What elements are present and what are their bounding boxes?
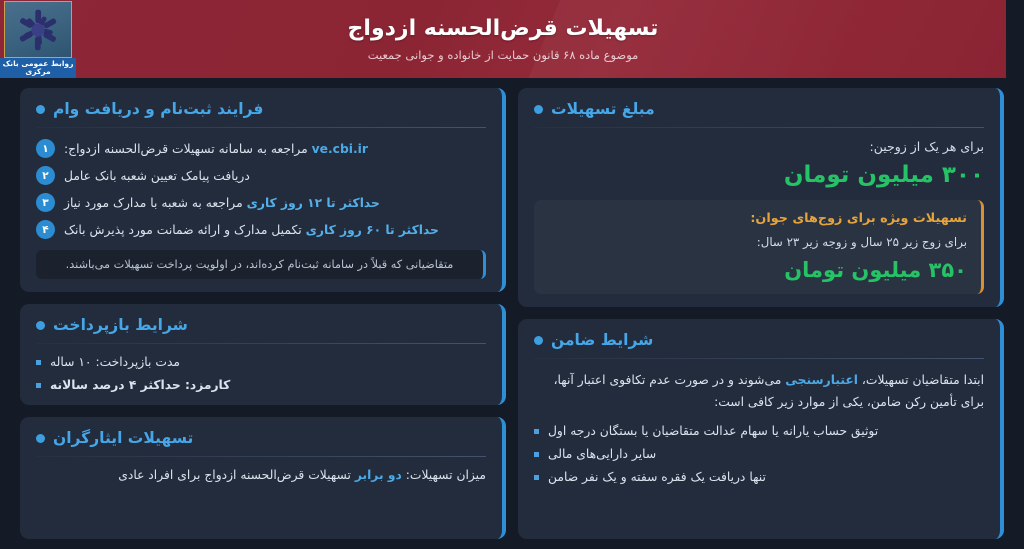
step-label: مراجعه به شعبه با مدارک مورد نیاز bbox=[64, 196, 243, 210]
step-text: حداکثر تا ۶۰ روز کاری تکمیل مدارک و ارائ… bbox=[64, 223, 439, 237]
repayment-list: مدت بازپرداخت: ۱۰ ساله کارمزد: حداکثر ۴ … bbox=[36, 355, 486, 392]
veterans-description: میزان تسهیلات: دو برابر تسهیلات قرض‌الحس… bbox=[36, 468, 486, 482]
step-text: ve.cbi.ir مراجعه به سامانه تسهیلات قرض‌ا… bbox=[64, 142, 368, 156]
process-title: فرایند ثبت‌نام و دریافت وام bbox=[53, 100, 263, 118]
divider bbox=[36, 343, 486, 344]
bullet-dot-icon bbox=[36, 321, 45, 330]
credit-scoring-highlight: اعتبارسنجی bbox=[785, 373, 858, 387]
repayment-header: شرایط بازپرداخت bbox=[36, 316, 486, 343]
list-item: ve.cbi.ir مراجعه به سامانه تسهیلات قرض‌ا… bbox=[36, 139, 486, 158]
square-bullet-icon bbox=[534, 429, 539, 434]
bullet-dot-icon bbox=[36, 434, 45, 443]
divider bbox=[36, 456, 486, 457]
step-label: مراجعه به سامانه تسهیلات قرض‌الحسنه ازدو… bbox=[64, 142, 308, 156]
step-label: دریافت پیامک تعیین شعبه بانک عامل bbox=[64, 169, 250, 183]
amount-label: برای هر یک از زوجین: bbox=[534, 139, 984, 154]
list-item: تنها دریافت یک فقره سفته و یک نفر ضامن bbox=[534, 470, 984, 484]
repayment-title: شرایط بازپرداخت bbox=[53, 316, 188, 334]
bullet-dot-icon bbox=[534, 336, 543, 345]
process-steps-list: ve.cbi.ir مراجعه به سامانه تسهیلات قرض‌ا… bbox=[36, 139, 486, 239]
veterans-multiplier-highlight: دو برابر bbox=[355, 468, 402, 482]
list-item: دریافت پیامک تعیین شعبه بانک عامل ۲ bbox=[36, 166, 486, 185]
guarantor-option-text: توثیق حساب یارانه یا سهام عدالت متقاضیان… bbox=[548, 424, 878, 438]
divider bbox=[534, 358, 984, 359]
repayment-conditions-card: شرایط بازپرداخت مدت بازپرداخت: ۱۰ ساله ک… bbox=[20, 304, 506, 405]
page-subtitle: موضوع ماده ۶۸ قانون حمایت از خانواده و ج… bbox=[368, 48, 639, 62]
amount-value: ۳۰۰ میلیون تومان bbox=[534, 162, 984, 188]
veterans-facility-card: تسهیلات ایثارگران میزان تسهیلات: دو براب… bbox=[20, 417, 506, 539]
bullet-dot-icon bbox=[36, 105, 45, 114]
facility-amount-card: مبلغ تسهیلات برای هر یک از زوجین: ۳۰۰ می… bbox=[518, 88, 1004, 307]
square-bullet-icon bbox=[534, 475, 539, 480]
bullet-dot-icon bbox=[534, 105, 543, 114]
square-bullet-icon bbox=[36, 360, 41, 365]
veterans-header: تسهیلات ایثارگران bbox=[36, 429, 486, 456]
step-number-badge: ۲ bbox=[36, 166, 55, 185]
page-title: تسهیلات قرض‌الحسنه ازدواج bbox=[348, 16, 659, 41]
facility-amount-header: مبلغ تسهیلات bbox=[534, 100, 984, 127]
step-text: حداکثر تا ۱۲ روز کاری مراجعه به شعبه با … bbox=[64, 196, 380, 210]
step-deadline-highlight: حداکثر تا ۶۰ روز کاری bbox=[306, 223, 439, 237]
guarantor-option-text: تنها دریافت یک فقره سفته و یک نفر ضامن bbox=[548, 470, 766, 484]
list-item: حداکثر تا ۱۲ روز کاری مراجعه به شعبه با … bbox=[36, 193, 486, 212]
guarantor-title: شرایط ضامن bbox=[551, 331, 653, 349]
step-deadline-highlight: حداکثر تا ۱۲ روز کاری bbox=[247, 196, 380, 210]
page-header: تسهیلات قرض‌الحسنه ازدواج موضوع ماده ۶۸ … bbox=[0, 0, 1006, 78]
list-item: توثیق حساب یارانه یا سهام عدالت متقاضیان… bbox=[534, 424, 984, 438]
veterans-text-after: تسهیلات قرض‌الحسنه ازدواج برای افراد عاد… bbox=[118, 468, 351, 482]
veterans-text-before: میزان تسهیلات: bbox=[406, 468, 486, 482]
step-number-badge: ۴ bbox=[36, 220, 55, 239]
repayment-fee: کارمزد: حداکثر ۴ درصد سالانه bbox=[50, 378, 230, 392]
logo-caption: روابط عمومی بانک مرکزی bbox=[0, 58, 76, 78]
step-label: تکمیل مدارک و ارائه ضمانت مورد پذیرش بان… bbox=[64, 223, 302, 237]
guarantor-intro-before: ابتدا متقاضیان تسهیلات، bbox=[862, 373, 984, 387]
list-item: مدت بازپرداخت: ۱۰ ساله bbox=[36, 355, 486, 369]
main-content: مبلغ تسهیلات برای هر یک از زوجین: ۳۰۰ می… bbox=[0, 78, 1024, 549]
step-text: دریافت پیامک تعیین شعبه بانک عامل bbox=[64, 169, 250, 183]
central-bank-logo bbox=[4, 1, 72, 58]
young-couples-amount: ۳۵۰ میلیون تومان bbox=[548, 258, 967, 282]
process-header: فرایند ثبت‌نام و دریافت وام bbox=[36, 100, 486, 127]
right-column: مبلغ تسهیلات برای هر یک از زوجین: ۳۰۰ می… bbox=[518, 88, 1004, 539]
step-number-badge: ۱ bbox=[36, 139, 55, 158]
guarantor-option-text: سایر دارایی‌های مالی bbox=[548, 447, 656, 461]
guarantor-intro: ابتدا متقاضیان تسهیلات، اعتبارسنجی می‌شو… bbox=[534, 370, 984, 413]
young-couples-condition: برای زوج زیر ۲۵ سال و زوجه زیر ۲۳ سال: bbox=[548, 235, 967, 249]
divider bbox=[36, 127, 486, 128]
registration-process-card: فرایند ثبت‌نام و دریافت وام ve.cbi.ir مر… bbox=[20, 88, 506, 292]
veterans-title: تسهیلات ایثارگران bbox=[53, 429, 193, 447]
list-item: کارمزد: حداکثر ۴ درصد سالانه bbox=[36, 378, 486, 392]
facility-amount-title: مبلغ تسهیلات bbox=[551, 100, 655, 118]
square-bullet-icon bbox=[36, 383, 41, 388]
step-number-badge: ۳ bbox=[36, 193, 55, 212]
guarantor-header: شرایط ضامن bbox=[534, 331, 984, 358]
priority-note: متقاضیانی که قبلاً در سامانه ثبت‌نام کرد… bbox=[36, 250, 486, 279]
list-item: سایر دارایی‌های مالی bbox=[534, 447, 984, 461]
repayment-duration: مدت بازپرداخت: ۱۰ ساله bbox=[50, 355, 180, 369]
list-item: حداکثر تا ۶۰ روز کاری تکمیل مدارک و ارائ… bbox=[36, 220, 486, 239]
registration-url-link[interactable]: ve.cbi.ir bbox=[312, 142, 368, 156]
young-couples-title: تسهیلات ویژه برای زوج‌های جوان: bbox=[548, 211, 967, 226]
young-couples-box: تسهیلات ویژه برای زوج‌های جوان: برای زوج… bbox=[534, 200, 984, 294]
guarantor-conditions-card: شرایط ضامن ابتدا متقاضیان تسهیلات، اعتبا… bbox=[518, 319, 1004, 539]
square-bullet-icon bbox=[534, 452, 539, 457]
left-column: فرایند ثبت‌نام و دریافت وام ve.cbi.ir مر… bbox=[20, 88, 506, 539]
bank-logo-block: روابط عمومی بانک مرکزی bbox=[0, 0, 76, 78]
divider bbox=[534, 127, 984, 128]
guarantor-options-list: توثیق حساب یارانه یا سهام عدالت متقاضیان… bbox=[534, 424, 984, 484]
